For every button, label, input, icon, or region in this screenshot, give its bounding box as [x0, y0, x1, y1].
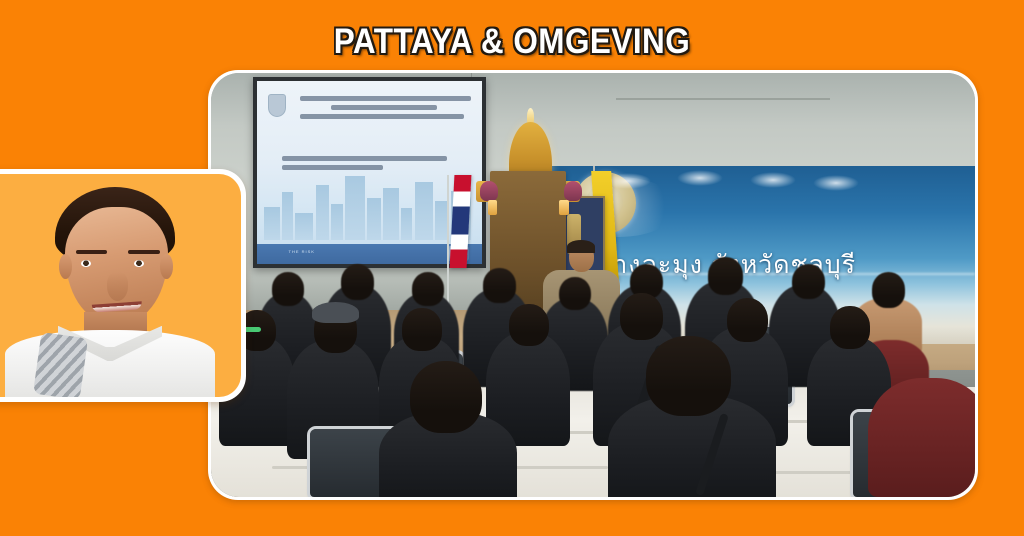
poster-canvas: PATTAYA & OMGEVING บางละมุง จังหวัดชลบุร… [0, 0, 1024, 536]
audience-head-front [410, 361, 483, 433]
crest-icon [268, 94, 286, 117]
spotlight [677, 170, 723, 186]
meeting-room-photo: บางละมุง จังหวัดชลบุรี [211, 73, 975, 497]
portrait-eye [81, 260, 91, 267]
portrait-eyebrow [76, 250, 107, 254]
portrait-ear [160, 254, 173, 279]
audience-head [509, 304, 549, 346]
audience-head [559, 277, 591, 311]
audience-head [872, 272, 906, 308]
audience-head [483, 268, 516, 303]
audience-head [830, 306, 870, 348]
audience-head [792, 264, 826, 300]
audience-head [412, 272, 444, 306]
cap-icon [312, 302, 359, 323]
portrait-ear [59, 254, 72, 279]
wall-seam-horizontal [616, 98, 830, 100]
flower-offering [480, 181, 498, 201]
flower-offering [564, 181, 582, 201]
meeting-room-photo-card: บางละมุง จังหวัดชลบุรี [208, 70, 978, 500]
page-title: PATTAYA & OMGEVING [51, 22, 973, 62]
spotlight [813, 175, 859, 191]
audience-head [708, 257, 743, 294]
slide-footer-label: THE RISK [289, 249, 315, 254]
portrait-eyebrow [128, 250, 159, 254]
author-portrait-card [0, 169, 246, 402]
audience-head [341, 264, 375, 300]
portrait-scarf [33, 332, 88, 397]
spotlight [750, 172, 796, 188]
audience-head [620, 293, 663, 340]
slide-heading-lines [300, 96, 471, 123]
speaker-hair [567, 240, 595, 254]
author-portrait [0, 174, 241, 397]
audience-head-front [646, 336, 730, 417]
audience-head [402, 308, 442, 350]
audience-head [727, 298, 768, 343]
audience-head [272, 272, 304, 306]
candle-icon [559, 200, 569, 214]
portrait-eye [134, 260, 144, 267]
audience-member-front-maroon [868, 378, 975, 497]
candle-icon [488, 200, 498, 214]
